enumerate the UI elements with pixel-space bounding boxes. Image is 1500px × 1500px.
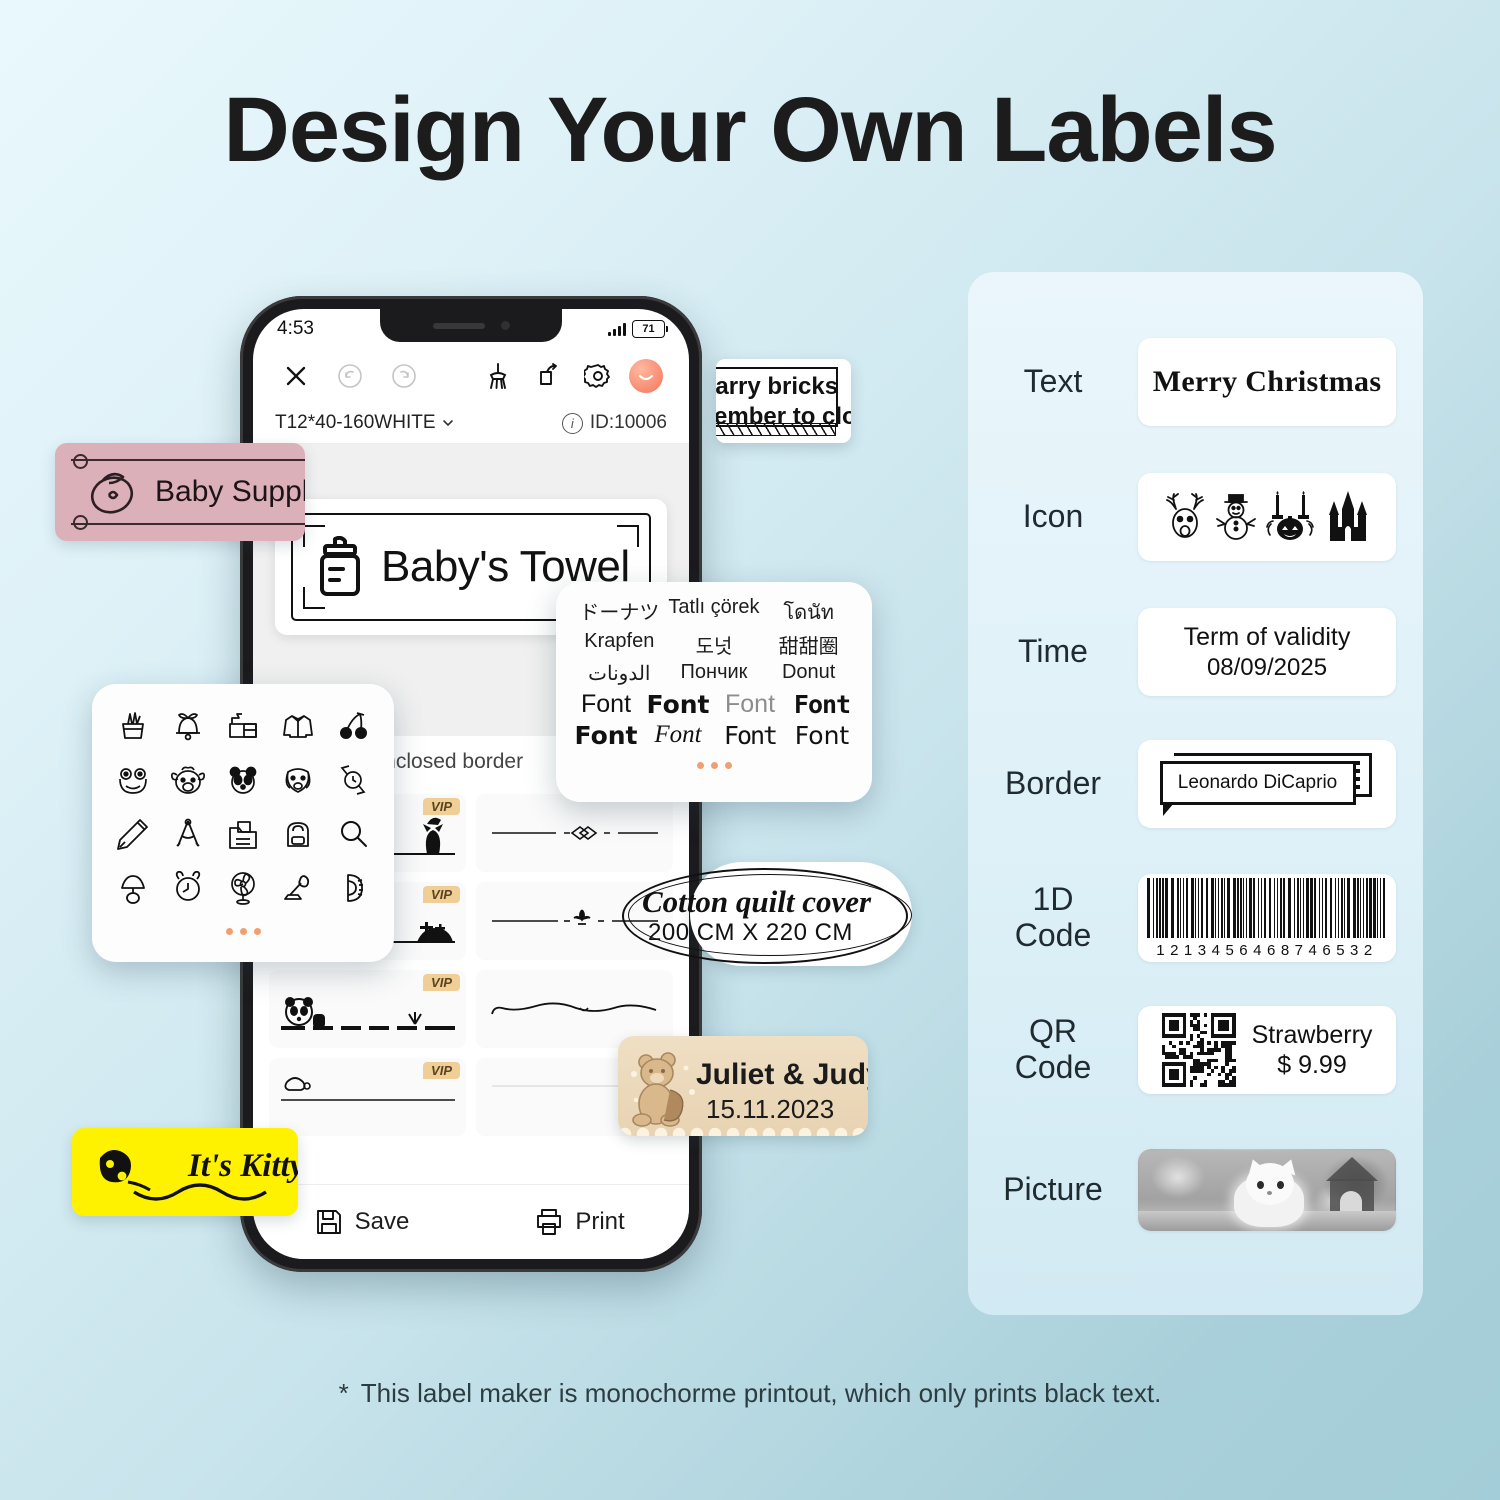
lang-sample[interactable]: الدونات [572, 661, 667, 686]
pen-holder-icon[interactable] [106, 700, 159, 752]
desk-icon[interactable] [216, 700, 269, 752]
template-item[interactable]: VIP [269, 970, 466, 1048]
pencil-icon[interactable] [106, 808, 159, 860]
feature-row-text: Text Merry Christmas [968, 332, 1423, 432]
feature-label-picture: Picture [968, 1172, 1138, 1208]
sticker-carry-bricks: Go carry bricks Remember to clock in [716, 359, 851, 443]
bottom-action-bar: Save Print [253, 1184, 689, 1259]
backpack-icon[interactable] [272, 808, 325, 860]
kitten-eye-left [1257, 1181, 1264, 1189]
mouse-line-art [277, 1066, 457, 1128]
sticker-kitty: It's Kitty Here [72, 1128, 298, 1216]
footnote: *This label maker is monochorme printout… [0, 1378, 1500, 1409]
feature-card-1d-code: 1213456468746532 [1138, 874, 1396, 962]
teddy-bear-icon [626, 1046, 704, 1130]
avatar[interactable] [629, 359, 663, 393]
font-sample[interactable]: Font [786, 690, 858, 719]
font-sample[interactable]: Font [642, 721, 714, 750]
label-id-group[interactable]: i ID:10006 [562, 412, 667, 434]
lang-sample[interactable]: 도넛 [667, 630, 762, 659]
baby-sticker-text: Baby Supplies [155, 475, 305, 509]
broom-icon[interactable] [477, 355, 519, 397]
app-toolbar [253, 349, 689, 403]
barcode-image [1147, 878, 1388, 938]
avatar-icon[interactable] [625, 355, 667, 397]
qr-product-price: $ 9.99 [1252, 1050, 1373, 1080]
feature-card-icon [1138, 473, 1396, 561]
kitten-nose [1267, 1191, 1272, 1195]
chevron-down-icon [441, 416, 455, 430]
signal-icon [608, 322, 626, 336]
feature-label-border: Border [968, 766, 1138, 802]
qr-code-image [1162, 1013, 1236, 1087]
font-sample[interactable]: Font [714, 690, 786, 719]
font-sample[interactable]: Font [570, 690, 642, 719]
close-icon[interactable] [275, 355, 317, 397]
panda-icon[interactable] [216, 754, 269, 806]
feature-card-qr-code: Strawberry $ 9.99 [1138, 1006, 1396, 1094]
pumpkin-candles-icon [1264, 491, 1316, 543]
font-sample-grid: Font Font Font Font Font Font Font Font [556, 686, 872, 750]
snowman-icon [1215, 493, 1257, 543]
border-name-text: Leonardo DiCaprio [1178, 772, 1338, 794]
font-sample[interactable]: Font [786, 721, 858, 750]
kitten-eye-right [1277, 1181, 1284, 1189]
lang-sample[interactable]: ドーナツ [572, 596, 667, 628]
feature-label-1d-code: 1D Code [968, 882, 1138, 954]
border-front-frame: Leonardo DiCaprio [1160, 761, 1356, 805]
feature-label-time: Time [968, 634, 1138, 670]
language-sample-grid: ドーナツ Tatlı çörek โดนัท Krapfen 도넛 甜甜圈 ال… [556, 582, 872, 686]
sticker-quilt-cover: Cotton quilt cover 200 CM X 220 CM [690, 862, 912, 966]
bell-icon[interactable] [161, 700, 214, 752]
icon-picker-popup [92, 684, 394, 962]
table-lamp-icon[interactable] [106, 862, 159, 914]
feature-panel: Text Merry Christmas Icon [968, 272, 1423, 1315]
merry-christmas-text: Merry Christmas [1153, 365, 1382, 399]
feature-card-border: Leonardo DiCaprio [1138, 740, 1396, 828]
status-right: 71 [608, 320, 665, 338]
save-icon [315, 1208, 343, 1236]
feature-row-1d-code: 1D Code 1213456468746532 [968, 868, 1423, 968]
print-icon [535, 1208, 563, 1236]
baby-bib-icon [85, 467, 143, 521]
kitten-photo [1138, 1149, 1396, 1231]
sticker-baby-supplies: Baby Supplies [55, 443, 305, 541]
lang-sample[interactable]: Пончик [667, 661, 762, 686]
template-item[interactable]: VIP [269, 1058, 466, 1136]
print-label: Print [575, 1208, 624, 1236]
page-title: Design Your Own Labels [0, 78, 1500, 183]
corner-top-left [303, 525, 325, 547]
feature-row-icon: Icon [968, 467, 1423, 567]
feature-label-icon: Icon [968, 499, 1138, 535]
label-size-text: T12*40-160WHITE [275, 412, 436, 434]
qr-text: Strawberry $ 9.99 [1252, 1020, 1373, 1080]
barcode-wrap: 1213456468746532 [1147, 878, 1388, 959]
feature-row-time: Time Term of validity 08/09/2025 [968, 602, 1423, 702]
status-time: 4:53 [277, 318, 314, 340]
qr-product-name: Strawberry [1252, 1020, 1373, 1050]
festive-icon-strip [1162, 491, 1373, 543]
protractor-icon[interactable] [327, 862, 380, 914]
label-size-bar: T12*40-160WHITE i ID:10006 [253, 403, 689, 444]
font-picker-popup: ドーナツ Tatlı çörek โดนัท Krapfen 도넛 甜甜圈 ال… [556, 582, 872, 802]
undo-icon[interactable] [329, 355, 371, 397]
corner-bottom-left [303, 587, 325, 609]
alarm-clock-icon[interactable] [161, 862, 214, 914]
feature-card-picture [1138, 1149, 1396, 1231]
juliet-sticker-scallop [618, 1122, 868, 1136]
compass-icon[interactable] [161, 808, 214, 860]
font-sample[interactable]: Font [642, 690, 714, 719]
feature-row-qr-code: QR Code Strawberry $ 9.99 [968, 1000, 1423, 1100]
footnote-star: * [339, 1378, 349, 1408]
shirt-icon[interactable] [272, 700, 325, 752]
lang-sample[interactable]: Krapfen [572, 630, 667, 659]
panda-dash-line-art [277, 978, 457, 1040]
swirl-divider-art [484, 978, 664, 1040]
cherry-icon[interactable] [327, 700, 380, 752]
font-sample[interactable]: Font [714, 721, 786, 750]
status-bar: 4:53 71 [253, 309, 689, 349]
time-title: Term of validity [1184, 622, 1351, 653]
border-demo: Leonardo DiCaprio [1160, 753, 1375, 815]
time-value: Term of validity 08/09/2025 [1184, 622, 1351, 682]
quilt-sticker-line1: Cotton quilt cover [642, 884, 871, 920]
icon-grid [92, 700, 394, 914]
kitty-sticker-text: It's Kitty Here [188, 1148, 298, 1185]
battery-level: 71 [642, 323, 654, 335]
castle-icon [1323, 491, 1373, 543]
sticker-juliet-judy: Juliet & Judy 15.11.2023 [618, 1036, 868, 1136]
juliet-sticker-date: 15.11.2023 [706, 1094, 834, 1125]
diamond-divider-art [484, 802, 664, 864]
magnifier-icon[interactable] [327, 808, 380, 860]
time-date: 08/09/2025 [1184, 653, 1351, 682]
cow-icon[interactable] [161, 754, 214, 806]
label-id-text: ID:10006 [590, 412, 667, 434]
font-popup-pager[interactable] [556, 762, 872, 769]
file-folder-icon[interactable] [216, 808, 269, 860]
frog-icon[interactable] [106, 754, 159, 806]
kitten-head [1246, 1163, 1294, 1205]
feature-label-text: Text [968, 364, 1138, 400]
cat-house-roof [1326, 1157, 1378, 1181]
label-qr-line1: QR [968, 1014, 1138, 1050]
font-sample[interactable]: Font [570, 721, 642, 750]
bricks-sticker-line1: Go carry bricks [716, 373, 838, 401]
save-label: Save [355, 1208, 410, 1236]
redo-icon[interactable] [383, 355, 425, 397]
border-speech-tail [1163, 803, 1174, 816]
border-dots [1356, 761, 1360, 791]
feature-card-time: Term of validity 08/09/2025 [1138, 608, 1396, 696]
label-size-selector[interactable]: T12*40-160WHITE [275, 412, 455, 434]
barcode-digits: 1213456468746532 [1156, 942, 1377, 959]
label-1d-line2: Code [968, 918, 1138, 954]
desk-lamp-icon[interactable] [272, 862, 325, 914]
feature-row-border: Border Leonardo DiCaprio [968, 734, 1423, 834]
footnote-text: This label maker is monochorme printout,… [361, 1378, 1162, 1408]
lang-sample[interactable]: Donut [761, 661, 856, 686]
reindeer-icon [1162, 491, 1208, 543]
dog-icon[interactable] [272, 754, 325, 806]
fan-icon[interactable] [216, 862, 269, 914]
feature-card-text: Merry Christmas [1138, 338, 1396, 426]
bricks-sticker-hatch [716, 423, 836, 436]
share-icon[interactable] [527, 355, 569, 397]
template-item[interactable] [476, 794, 673, 872]
watch-icon[interactable] [327, 754, 380, 806]
quilt-sticker-line2: 200 CM X 220 CM [648, 919, 853, 947]
icon-popup-pager[interactable] [92, 928, 394, 935]
label-qr-line2: Code [968, 1050, 1138, 1086]
info-icon: i [562, 413, 583, 434]
lang-sample[interactable]: 甜甜圈 [761, 630, 856, 659]
feature-label-qr-code: QR Code [968, 1014, 1138, 1086]
print-button[interactable]: Print [471, 1208, 689, 1236]
gear-icon[interactable] [577, 355, 619, 397]
lang-sample[interactable]: Tatlı çörek [667, 596, 762, 628]
feature-row-picture: Picture [968, 1140, 1423, 1240]
label-1d-line1: 1D [968, 882, 1138, 918]
lang-sample[interactable]: โดนัท [761, 596, 856, 628]
juliet-sticker-name: Juliet & Judy [696, 1058, 868, 1092]
battery-icon: 71 [632, 320, 665, 338]
corner-top-right [617, 525, 639, 547]
